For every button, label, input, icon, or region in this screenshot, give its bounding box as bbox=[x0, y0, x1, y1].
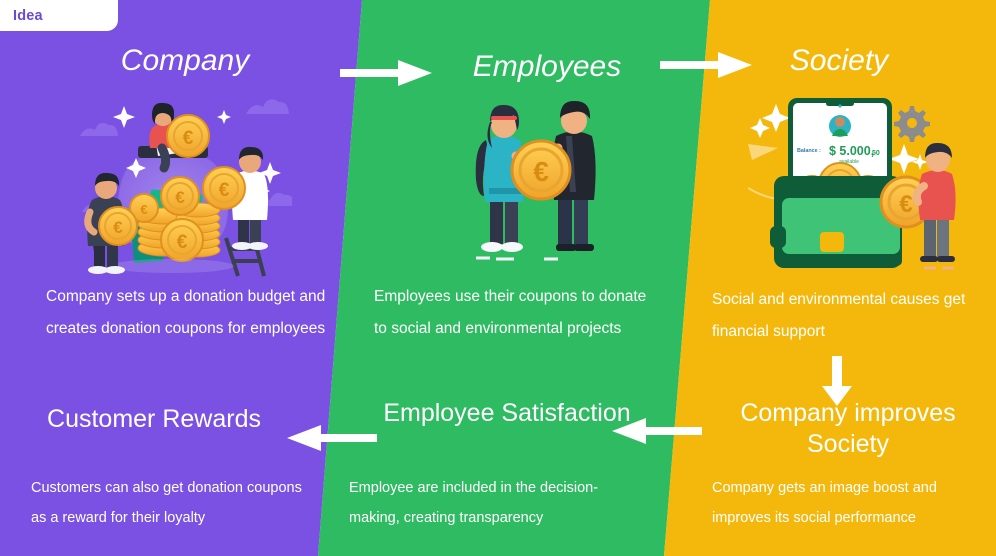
ground-dashes bbox=[476, 258, 558, 259]
wallet bbox=[770, 176, 902, 268]
svg-text:€: € bbox=[175, 188, 185, 207]
heading-society: Society bbox=[724, 44, 954, 78]
arrow-employee-satisfaction-to-customer-rewards bbox=[287, 425, 377, 456]
euro-coin: € bbox=[167, 115, 209, 157]
heading-employee-satisfaction: Employee Satisfaction bbox=[378, 398, 636, 429]
svg-text:€: € bbox=[113, 218, 123, 237]
heading-customer-rewards: Customer Rewards bbox=[20, 404, 288, 435]
idea-tab[interactable]: Idea bbox=[0, 0, 118, 31]
euro-coin: € bbox=[99, 207, 137, 245]
svg-text:€: € bbox=[899, 191, 912, 218]
euro-coin: € bbox=[161, 177, 199, 215]
body-customer-rewards: Customers can also get donation coupons … bbox=[31, 473, 321, 534]
donation-jar-illustration: € € € bbox=[78, 88, 292, 285]
arrow-company-to-employees bbox=[340, 60, 432, 91]
paper-plane-icon bbox=[748, 144, 778, 160]
heading-company: Company bbox=[60, 44, 310, 78]
euro-coin: € bbox=[161, 219, 203, 261]
body-company-improves-society: Company gets an image boost and improves… bbox=[712, 473, 992, 534]
balance-cents-text: 50 bbox=[872, 150, 880, 157]
heading-employees: Employees bbox=[424, 50, 670, 84]
arrow-employees-to-society bbox=[660, 52, 752, 83]
svg-text:€: € bbox=[219, 180, 230, 201]
gear-icon bbox=[894, 106, 930, 142]
svg-text:€: € bbox=[140, 202, 147, 217]
body-company: Company sets up a donation budget and cr… bbox=[46, 281, 334, 345]
arrow-company-improves-to-employee-satisfaction bbox=[612, 418, 702, 449]
euro-coin-exchanged: € bbox=[512, 141, 570, 199]
body-society: Social and environmental causes get fina… bbox=[712, 284, 994, 348]
arrow-society-to-company-improves bbox=[822, 356, 852, 411]
idea-flow-diagram: Idea bbox=[0, 0, 996, 556]
svg-text:€: € bbox=[533, 156, 549, 187]
body-employees: Employees use their coupons to donate to… bbox=[374, 281, 650, 345]
euro-coin: € bbox=[203, 167, 245, 209]
balance-amount-text: $ 5.000, bbox=[829, 144, 874, 158]
svg-text:€: € bbox=[177, 232, 188, 253]
body-employee-satisfaction: Employee are included in the decision-ma… bbox=[349, 473, 637, 534]
svg-text:€: € bbox=[183, 128, 194, 149]
idea-tab-label: Idea bbox=[0, 8, 43, 24]
balance-label-text: Balance : bbox=[797, 148, 821, 154]
wallet-balance-illustration: Balance : $ 5.000, 50 available € € bbox=[748, 92, 968, 281]
coin-exchange-illustration: € bbox=[462, 96, 616, 271]
